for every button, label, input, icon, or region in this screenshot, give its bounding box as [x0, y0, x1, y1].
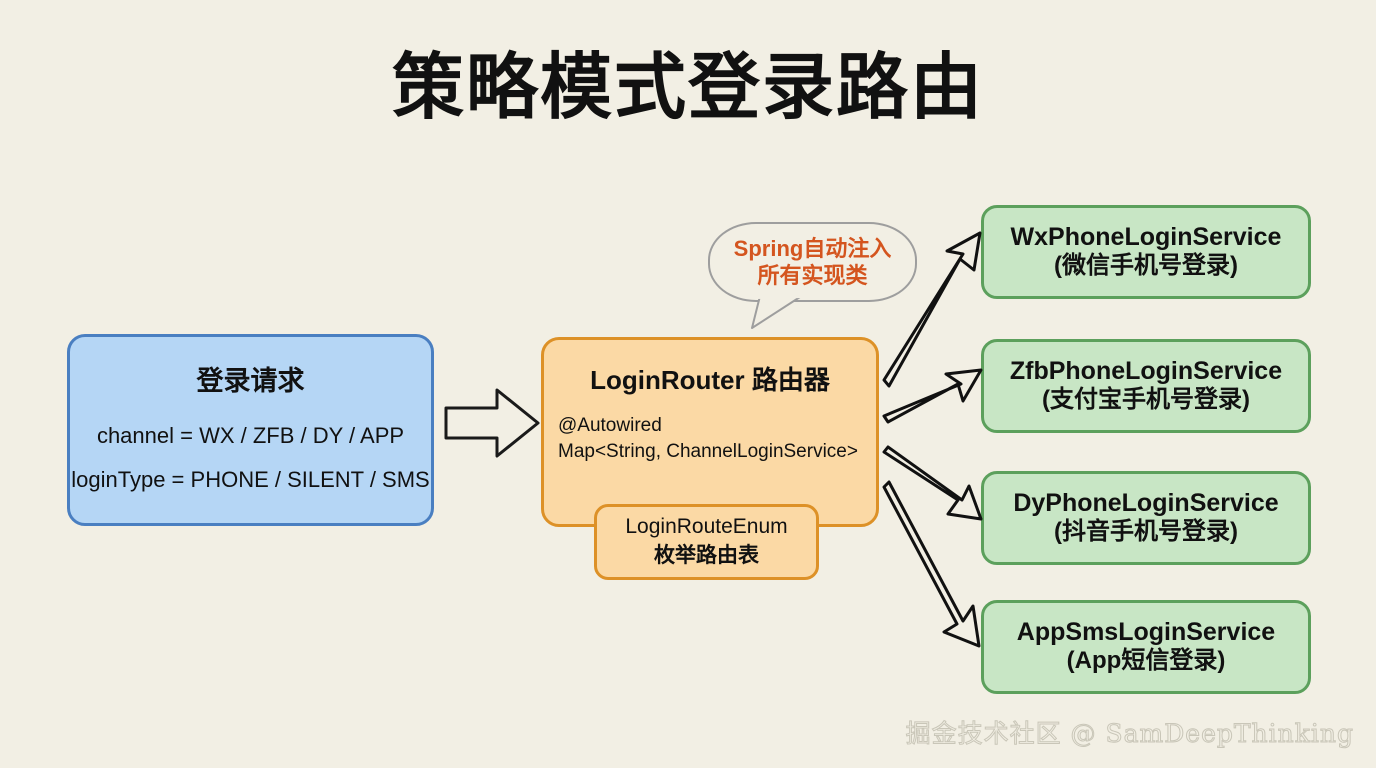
page-title: 策略模式登录路由	[0, 52, 1376, 124]
login-router-node: LoginRouter 路由器 @Autowired Map<String, C…	[541, 337, 879, 527]
diagram-canvas: 策略模式登录路由 登录请求 channel = WX / ZFB / DY / …	[0, 0, 1376, 768]
watermark: 掘金技术社区 @ SamDeepThinking	[906, 714, 1354, 750]
arrow-router-to-zfb	[884, 370, 981, 422]
login-router-header: LoginRouter 路由器	[558, 360, 862, 397]
service-description: (App短信登录)	[1067, 647, 1226, 676]
arrow-request-to-router	[446, 390, 538, 456]
login-request-channel-line: channel = WX / ZFB / DY / APP	[97, 423, 404, 449]
service-node-app-sms-login: AppSmsLoginService (App短信登录)	[981, 600, 1311, 694]
service-node-zfb-phone-login: ZfbPhoneLoginService (支付宝手机号登录)	[981, 339, 1311, 433]
login-route-enum-label: 枚举路由表	[654, 539, 759, 569]
login-router-map-line: Map<String, ChannelLoginService>	[558, 439, 862, 465]
login-router-autowired-line: @Autowired	[558, 413, 862, 439]
service-description: (抖音手机号登录)	[1054, 518, 1238, 547]
login-request-header: 登录请求	[197, 359, 305, 398]
service-node-dy-phone-login: DyPhoneLoginService (抖音手机号登录)	[981, 471, 1311, 565]
callout-line-2: 所有实现类	[757, 262, 867, 290]
service-class-name: AppSmsLoginService	[1017, 618, 1275, 647]
arrow-router-to-app	[884, 482, 979, 646]
service-class-name: DyPhoneLoginService	[1013, 489, 1278, 518]
callout-line-1: Spring自动注入	[734, 235, 892, 263]
service-node-wx-phone-login: WxPhoneLoginService (微信手机号登录)	[981, 205, 1311, 299]
service-description: (微信手机号登录)	[1054, 252, 1238, 281]
service-class-name: ZfbPhoneLoginService	[1010, 357, 1282, 386]
service-class-name: WxPhoneLoginService	[1011, 223, 1282, 252]
spring-autowire-callout: Spring自动注入 所有实现类	[708, 222, 917, 302]
login-request-node: 登录请求 channel = WX / ZFB / DY / APP login…	[67, 334, 434, 526]
service-description: (支付宝手机号登录)	[1042, 386, 1250, 415]
login-route-enum-class: LoginRouteEnum	[625, 515, 787, 539]
login-route-enum-node: LoginRouteEnum 枚举路由表	[594, 504, 819, 580]
login-request-logintype-line: loginType = PHONE / SILENT / SMS	[71, 467, 429, 493]
arrow-router-to-dy	[884, 447, 981, 519]
